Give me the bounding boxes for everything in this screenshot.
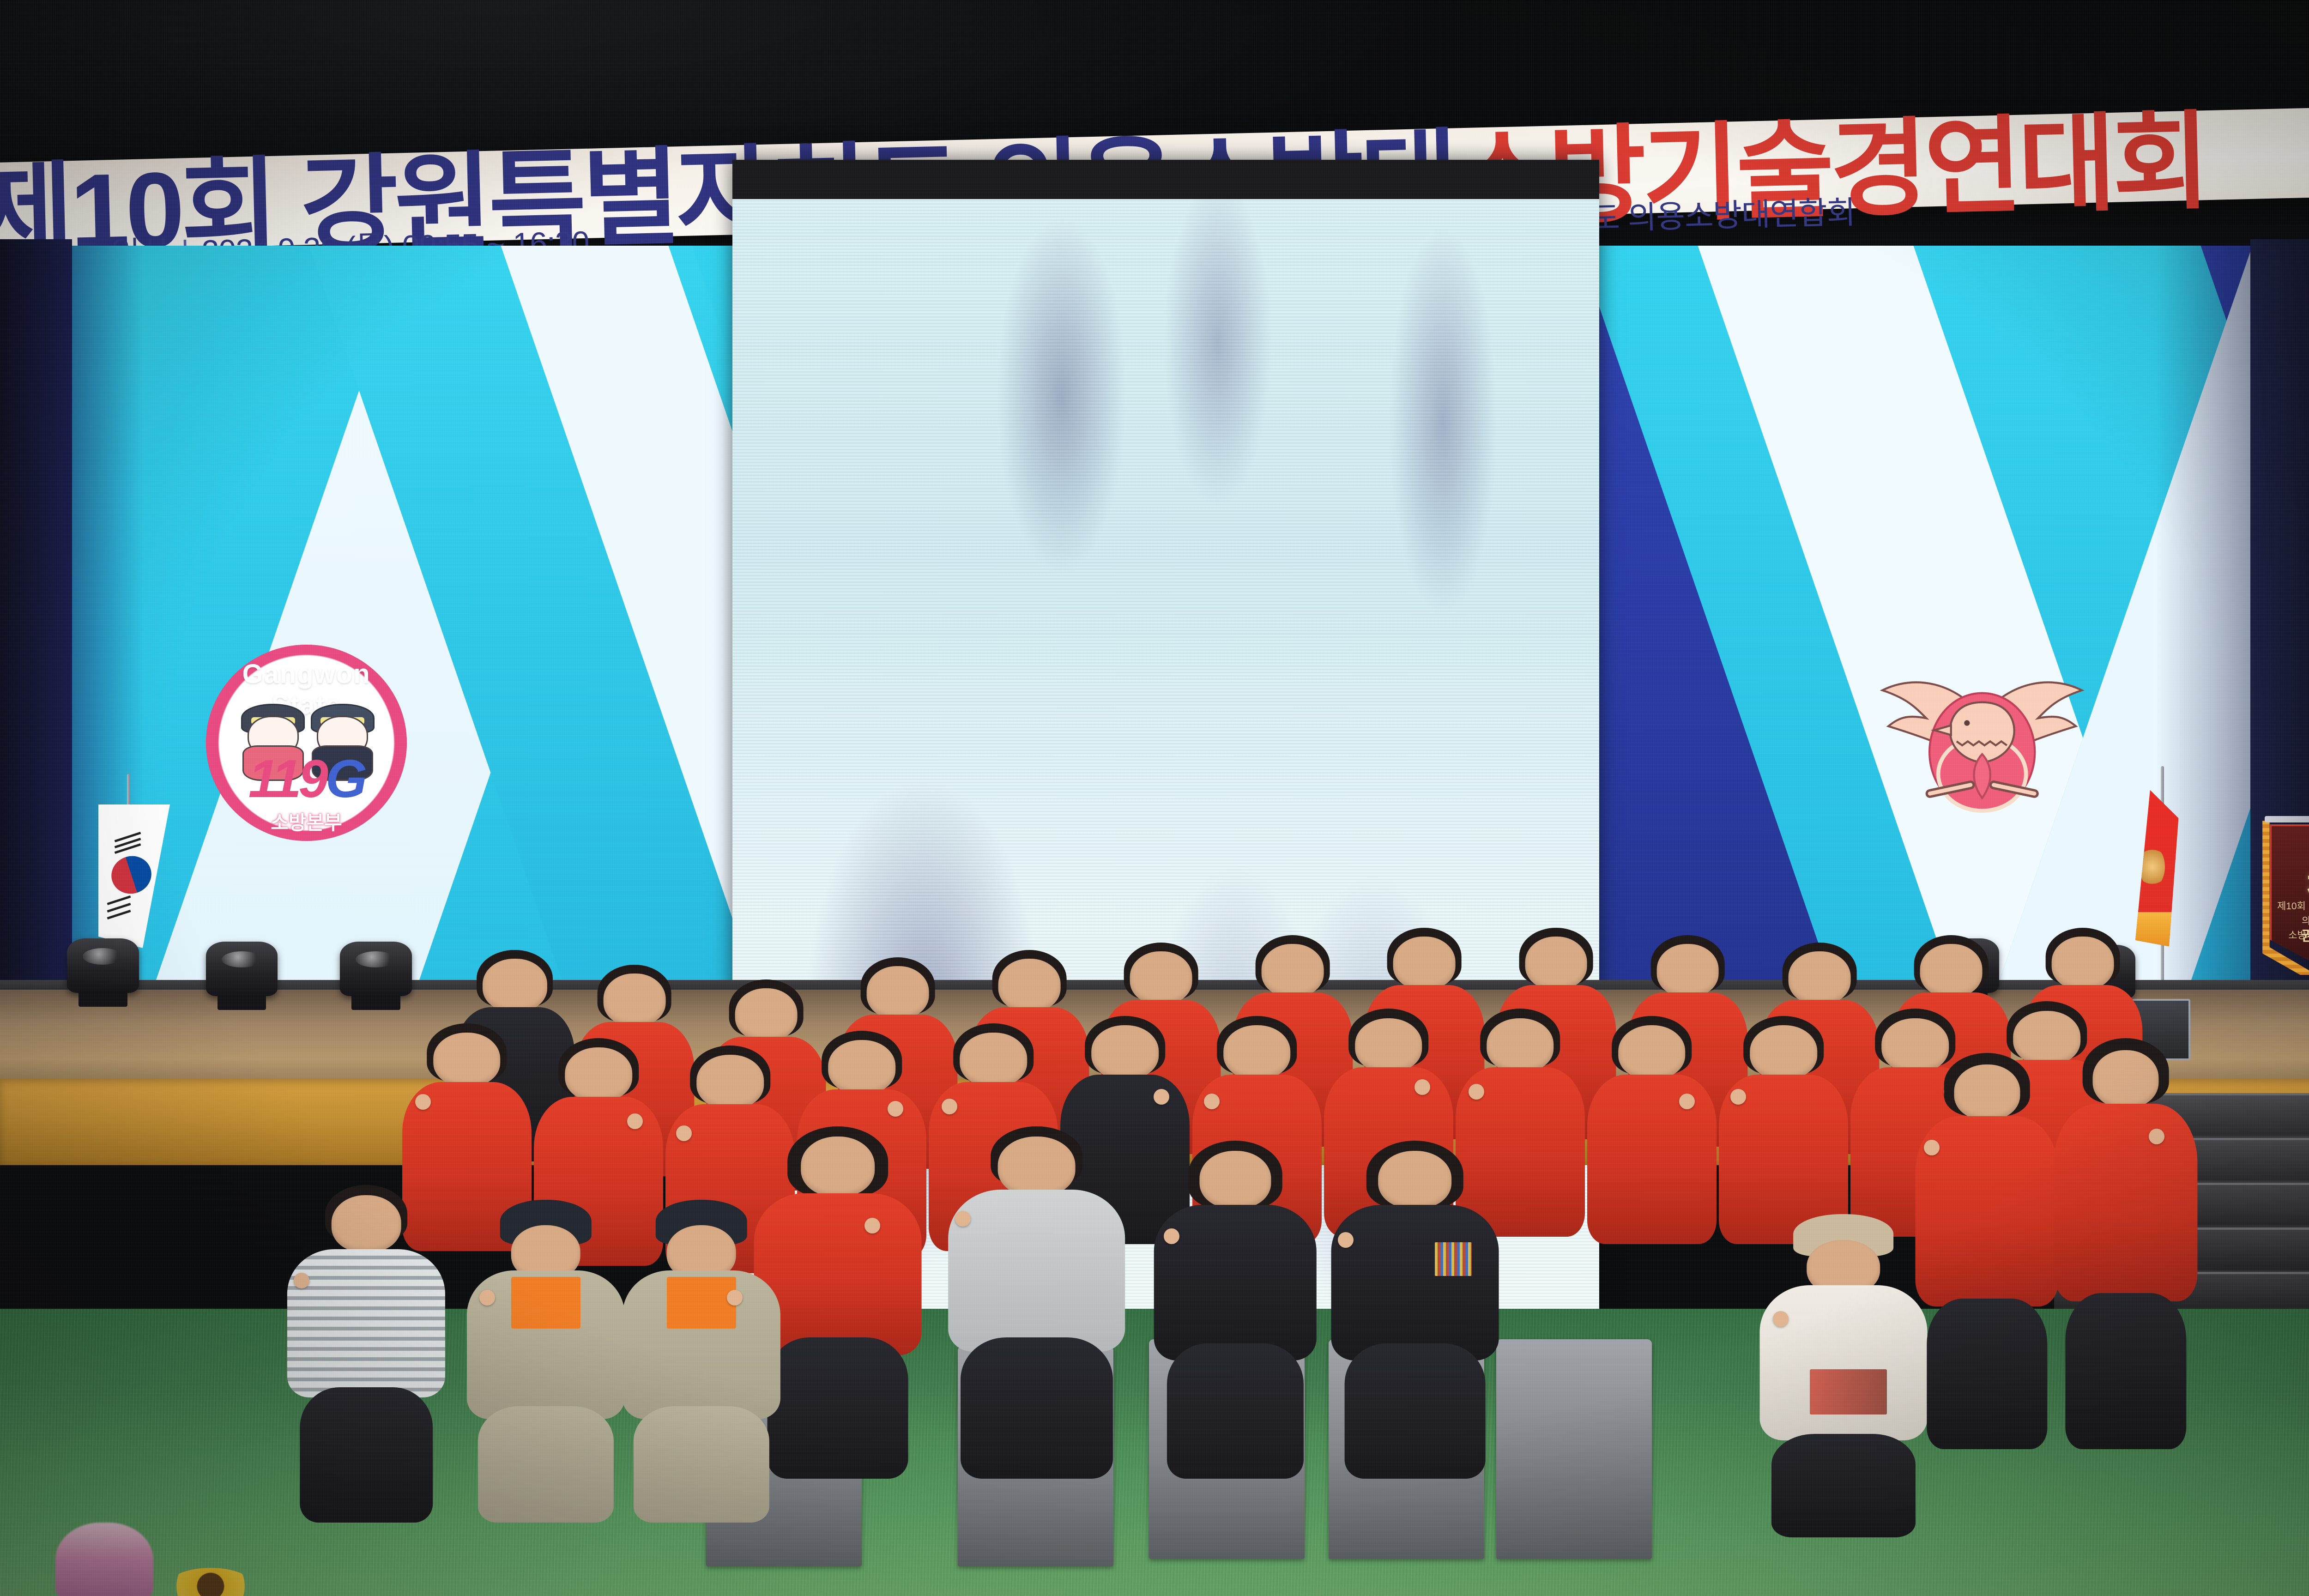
photograph-canvas: 제10회 강원특별자치도 의용소방대소방기술경연대회 일시 | 2024.9.2…: [0, 0, 2309, 1596]
person-standing-right-1: [1915, 1053, 2059, 1449]
finger-heart-hand: [1730, 1089, 1746, 1105]
hi-vis-collar: [667, 1277, 737, 1329]
finger-heart-hand: [1154, 1089, 1169, 1105]
person-kneeling-firefighter-1: [467, 1200, 625, 1523]
head: [1092, 1025, 1159, 1079]
head: [801, 1137, 875, 1197]
hi-vis-collar: [511, 1277, 581, 1329]
finger-heart-hand: [676, 1125, 692, 1141]
legs: [634, 1406, 769, 1523]
legs: [768, 1337, 908, 1478]
legs: [1927, 1299, 2047, 1449]
person-front-row-officer-uniform: [1331, 1141, 1499, 1478]
head: [867, 966, 929, 1019]
gangwon-number: 119: [248, 749, 326, 809]
finger-heart-hand: [415, 1094, 431, 1110]
head: [828, 1040, 895, 1094]
person-kneeling-man-striped-shirt: [287, 1185, 445, 1523]
head: [433, 1033, 501, 1087]
head: [1525, 937, 1587, 989]
head: [1487, 1018, 1554, 1072]
firefighter-eagle-icon: [1862, 654, 2102, 822]
finger-heart-hand: [1204, 1094, 1220, 1109]
finger-heart-hand: [1679, 1094, 1695, 1109]
gangwon-letter-g: G: [326, 749, 364, 809]
decorative-flowers: [38, 1523, 326, 1596]
head: [960, 1033, 1028, 1087]
legs: [2066, 1293, 2186, 1449]
head: [565, 1047, 632, 1101]
torso: [1587, 1075, 1717, 1244]
head: [1920, 944, 1983, 997]
person-front-row-woman-black-suit: [1154, 1141, 1317, 1478]
head: [1355, 1018, 1422, 1072]
head: [1262, 944, 1324, 997]
head: [603, 973, 665, 1026]
finger-heart-hand: [1469, 1084, 1484, 1100]
finger-heart-hand: [727, 1290, 743, 1306]
head: [2052, 937, 2114, 989]
finger-heart-hand: [627, 1113, 643, 1129]
head: [1130, 951, 1192, 1004]
head: [1750, 1025, 1817, 1079]
torso: [1154, 1205, 1317, 1360]
torso: [1331, 1205, 1499, 1360]
head: [1954, 1064, 2020, 1120]
torso: [2054, 1104, 2198, 1301]
finger-heart-hand: [1414, 1079, 1430, 1095]
person-kneeling-man-white-tshirt: [1759, 1214, 1927, 1537]
person-front-row-man-grey-shirt: [948, 1126, 1125, 1479]
finger-heart-hand: [294, 1273, 309, 1288]
pennant-hanger-bar: [2265, 816, 2309, 823]
finger-heart-hand: [955, 1211, 971, 1227]
person-middle-row: [1587, 1016, 1717, 1251]
legs: [961, 1337, 1113, 1478]
medal-ribbons: [1435, 1242, 1472, 1276]
sunflower-icon: [168, 1568, 254, 1596]
torso: [1759, 1285, 1927, 1440]
head: [997, 1137, 1076, 1197]
head: [483, 959, 547, 1011]
person-kneeling-firefighter-2: [623, 1200, 780, 1523]
tshirt-graphic: [1810, 1369, 1887, 1415]
head: [1618, 1025, 1686, 1079]
torso: [948, 1190, 1125, 1352]
gangwon-state-emblem: Gangwon State 119G 소방본부: [206, 645, 407, 841]
gangwon-119-text: 119G: [206, 748, 407, 810]
legs: [1771, 1434, 1916, 1537]
head: [332, 1195, 401, 1252]
head: [1656, 944, 1719, 997]
head: [2093, 1050, 2159, 1108]
group-photo-people: [0, 862, 2309, 1596]
head: [1199, 1151, 1271, 1208]
torso: [287, 1249, 445, 1398]
head: [735, 988, 797, 1041]
finger-heart-hand: [942, 1099, 957, 1114]
legs: [300, 1387, 432, 1523]
pink-flower: [55, 1523, 153, 1596]
head: [1223, 1025, 1291, 1079]
legs: [1344, 1343, 1485, 1479]
head: [998, 959, 1061, 1011]
finger-heart-hand: [1338, 1232, 1354, 1248]
legs: [478, 1406, 614, 1523]
head: [696, 1055, 764, 1109]
legs: [1167, 1343, 1304, 1479]
head: [1788, 951, 1850, 1004]
gangwon-sub-text: 소방본부: [206, 807, 407, 835]
head: [1378, 1151, 1452, 1208]
finger-heart-hand: [2149, 1129, 2164, 1144]
person-standing-right-2: [2054, 1038, 2198, 1449]
chair: [1496, 1339, 1652, 1560]
head: [1393, 937, 1456, 989]
